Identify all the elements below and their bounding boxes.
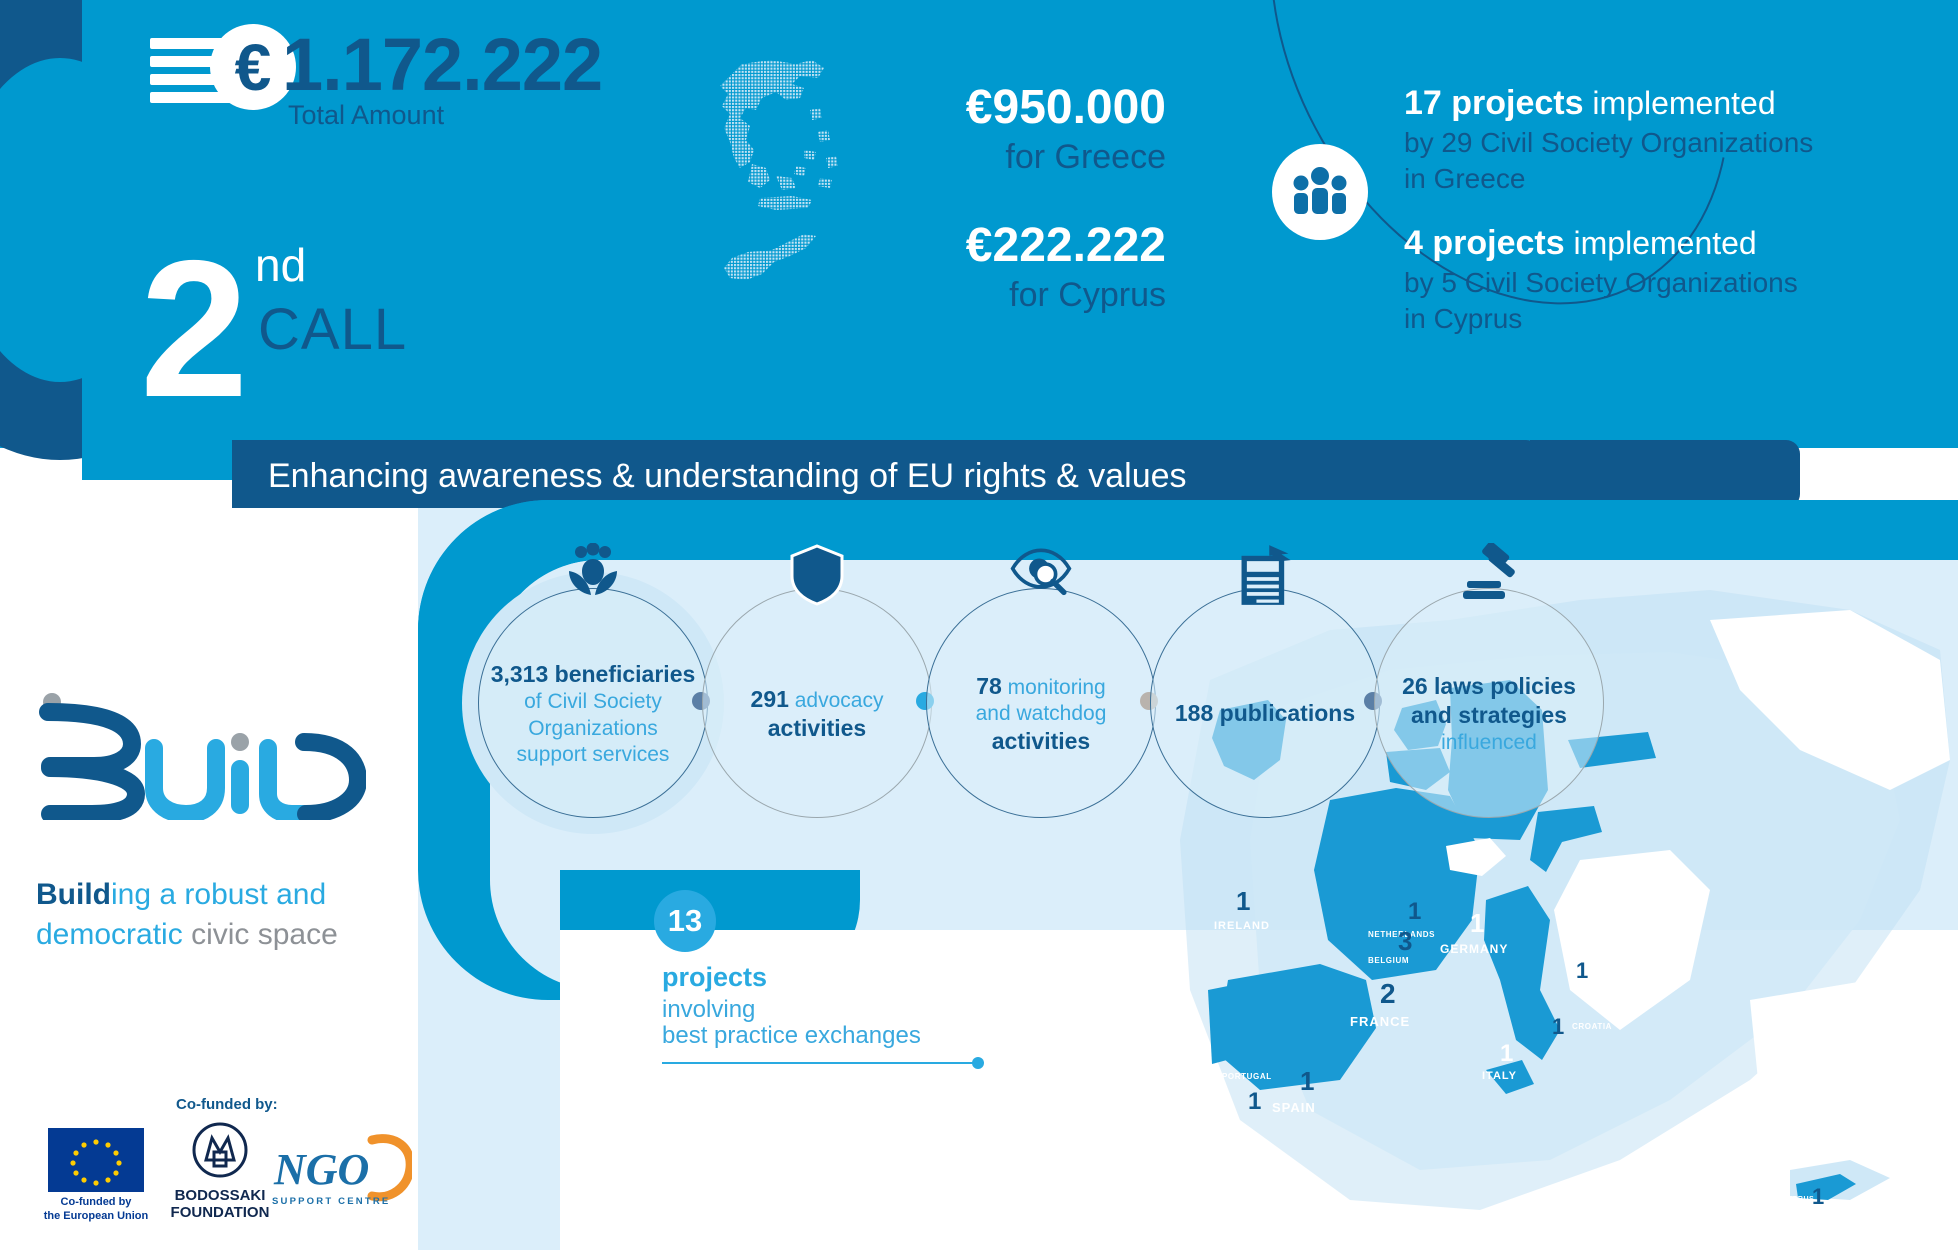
greece-projects-verb: implemented: [1584, 85, 1776, 121]
build-logo: [36, 690, 366, 820]
map-value-germany: 1: [1470, 908, 1484, 939]
greece-map-icon: [700, 58, 840, 218]
map-label-belgium: BELGIUM: [1368, 956, 1409, 965]
map-value-belgium: 3: [1398, 926, 1412, 957]
advocacy-word: advocacy: [789, 689, 884, 712]
advocacy-line2: activities: [768, 715, 866, 741]
cofunded-label: Co-funded by:: [176, 1096, 278, 1113]
brand-tagline-line2: democratic civic space: [36, 918, 338, 952]
greece-projects-block: 17 projects implemented by 29 Civil Soci…: [1404, 82, 1834, 197]
eu-caption-line2: the European Union: [44, 1210, 149, 1222]
shield-icon: [785, 543, 849, 607]
infographic-canvas: € 1.172.222 Total Amount 2 nd CALL: [0, 0, 1958, 1250]
brand-tagline-cyan-1: ing a robust and: [111, 878, 326, 911]
eu-flag-icon: [48, 1128, 144, 1192]
euro-coin-icon: €: [150, 24, 290, 110]
monitoring-line3: activities: [992, 728, 1090, 754]
eu-caption-line1: Co-funded by: [61, 1196, 132, 1208]
publication-icon: [1233, 543, 1297, 607]
publications-count: 188 publications: [1175, 700, 1355, 726]
beneficiaries-line3: Organizations: [528, 717, 658, 740]
map-label-germany: GERMANY: [1440, 942, 1508, 956]
map-label-ireland: IRELAND: [1214, 920, 1270, 932]
brand-tagline-cyan-2: democratic: [36, 918, 191, 951]
call-number: 2: [140, 232, 248, 427]
eye-magnifier-icon: [1009, 543, 1073, 607]
banner-notch: [232, 440, 272, 508]
stat-card-beneficiaries: 3,313 beneficiaries of Civil Society Org…: [478, 588, 708, 818]
brand-tagline-bold: Build: [36, 878, 111, 911]
map-value-spain: 1: [1300, 1066, 1314, 1097]
laws-line2: and strategies: [1411, 702, 1567, 728]
community-flower-icon: [561, 543, 625, 607]
people-group-icon: [1272, 144, 1368, 240]
map-value-portugal: 1: [1248, 1088, 1261, 1116]
map-label-portugal: PORTUGAL: [1222, 1072, 1272, 1081]
map-label-cyprus: CYPRUS: [1782, 1196, 1814, 1203]
stat-card-advocacy: 291 advocacy activities: [702, 588, 932, 818]
map-label-italy: ITALY: [1482, 1070, 1517, 1082]
ngo-wordmark: NGO: [273, 1145, 369, 1194]
bodossaki-emblem-icon: [192, 1122, 248, 1178]
laws-count: 26 laws policies: [1402, 673, 1576, 699]
monitoring-word: monitoring: [1002, 676, 1106, 699]
stat-card-publications: 188 publications: [1150, 588, 1380, 818]
cyprus-amount-label: for Cyprus: [836, 276, 1166, 315]
exchanges-endpoint-dot: [972, 1057, 984, 1069]
stat-card-monitoring: 78 monitoring and watchdog activities: [926, 588, 1156, 818]
map-label-france: FRANCE: [1350, 1014, 1410, 1029]
cyprus-projects-verb: implemented: [1565, 225, 1757, 261]
map-label-slovakia: SLOVAKIA: [1596, 956, 1642, 965]
exchanges-rule: [662, 1062, 980, 1064]
exchanges-line1: involving: [662, 996, 755, 1024]
map-value-netherlands: 1: [1408, 898, 1421, 926]
ngo-support-centre-subtitle: SUPPORT CENTRE: [272, 1196, 408, 1207]
eu-flag-caption: Co-funded by the European Union: [30, 1196, 162, 1224]
beneficiaries-line2: of Civil Society: [524, 690, 662, 713]
advocacy-count: 291: [751, 686, 789, 712]
bodossaki-name-2: FOUNDATION: [171, 1204, 270, 1221]
cyprus-projects-location: in Cyprus: [1404, 301, 1834, 337]
greece-projects-count: 17 projects: [1404, 84, 1584, 122]
banner-extension: [1530, 440, 1800, 508]
brand-tagline-grey: civic space: [191, 918, 338, 951]
cyprus-projects-count: 4 projects: [1404, 224, 1565, 262]
call-theme-text: Enhancing awareness & understanding of E…: [268, 457, 1187, 496]
greece-projects-location: in Greece: [1404, 161, 1834, 197]
beneficiaries-line4: support services: [517, 743, 670, 766]
laws-line3: influenced: [1441, 731, 1537, 754]
map-value-france: 2: [1380, 978, 1396, 1010]
gavel-icon: [1457, 543, 1521, 607]
exchanges-badge: 13: [654, 890, 716, 952]
map-label-croatia: CROATIA: [1572, 1022, 1612, 1031]
cyprus-amount: €222.222: [836, 218, 1166, 273]
map-value-slovakia: 1: [1576, 958, 1588, 984]
map-value-italy: 1: [1500, 1040, 1513, 1068]
monitoring-line2: and watchdog: [976, 702, 1107, 725]
bodossaki-logo: BODOSSAKI FOUNDATION: [166, 1122, 274, 1222]
greece-amount-label: for Greece: [836, 138, 1166, 177]
map-value-ireland: 1: [1236, 886, 1250, 917]
beneficiaries-count: 3,313 beneficiaries: [491, 661, 696, 687]
call-word: CALL: [258, 296, 407, 363]
call-ordinal: nd: [255, 238, 306, 292]
greece-projects-orgs: by 29 Civil Society Organizations: [1404, 125, 1834, 161]
bodossaki-name-1: BODOSSAKI: [175, 1187, 266, 1204]
brand-tagline-line1: Building a robust and: [36, 878, 326, 912]
map-label-spain: SPAIN: [1272, 1100, 1316, 1115]
cyprus-projects-orgs: by 5 Civil Society Organizations: [1404, 265, 1834, 301]
exchanges-line2: best practice exchanges: [662, 1022, 921, 1050]
cyprus-projects-block: 4 projects implemented by 5 Civil Societ…: [1404, 222, 1834, 337]
map-value-croatia: 1: [1552, 1014, 1564, 1040]
cyprus-map-icon: [718, 232, 822, 292]
stat-card-laws: 26 laws policies and strategies influenc…: [1374, 588, 1604, 818]
greece-amount: €950.000: [836, 80, 1166, 135]
exchanges-title: projects: [662, 962, 767, 993]
total-amount-value: 1.172.222: [282, 22, 602, 107]
total-amount-label: Total Amount: [288, 100, 444, 131]
monitoring-count: 78: [976, 673, 1002, 699]
